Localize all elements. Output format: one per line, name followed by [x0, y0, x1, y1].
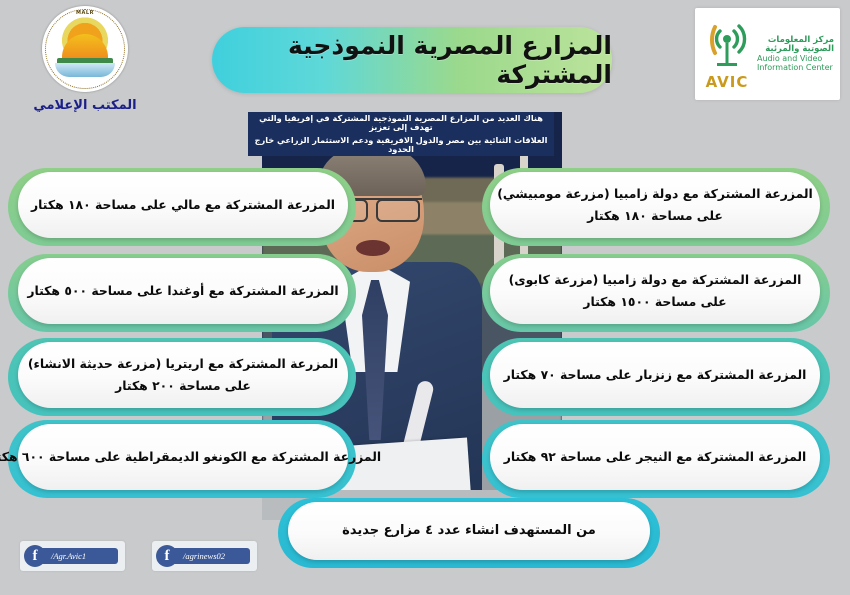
card-line-1: المزرعة المشتركة مع اريتريا (مزرعة حديثة…: [28, 357, 338, 371]
farm-card-eritrea[interactable]: المزرعة المشتركة مع اريتريا (مزرعة حديثة…: [8, 338, 356, 416]
avic-wordmark: AVIC: [701, 73, 753, 91]
ministry-seal-icon: MALR: [42, 6, 128, 92]
card-body: المزرعة المشتركة مع الكونغو الديمقراطية …: [18, 424, 348, 490]
facebook-icon: f: [24, 545, 46, 567]
subtitle-banner: هناك العديد من المزارع المصرية النموذجية…: [248, 112, 554, 156]
card-line-1: المزرعة المشتركة مع مالي على مساحة ١٨٠ ه…: [31, 198, 335, 212]
facebook-badge-agrinews[interactable]: f /agrinews02: [152, 541, 257, 571]
card-body: المزرعة المشتركة مع مالي على مساحة ١٨٠ ه…: [18, 172, 348, 238]
avic-logo: AVIC مركز المعلومات الصوتية والمرئية Aud…: [695, 8, 840, 100]
page-title-text: المزارع المصرية النموذجية المشتركة: [212, 31, 612, 89]
card-body: المزرعة المشتركة مع دولة زامبيا (مزرعة ك…: [490, 258, 820, 324]
farm-card-zanzibar[interactable]: المزرعة المشتركة مع زنزبار على مساحة ٧٠ …: [482, 338, 830, 416]
card-line-1: المزرعة المشتركة مع دولة زامبيا (مزرعة ك…: [509, 273, 802, 287]
card-body: المزرعة المشتركة مع دولة زامبيا (مزرعة م…: [490, 172, 820, 238]
card-line-2: على مساحة ١٨٠ هكتار: [587, 209, 723, 223]
facebook-handle: /Agr.Avic1: [51, 551, 86, 561]
farm-card-mali[interactable]: المزرعة المشتركة مع مالي على مساحة ١٨٠ ه…: [8, 168, 356, 246]
card-line-1: المزرعة المشتركة مع أوغندا على مساحة ٥٠٠…: [27, 284, 338, 298]
farm-card-target-new-farms[interactable]: من المستهدف انشاء عدد ٤ مزارع جديدة: [278, 498, 660, 568]
facebook-handle: /agrinews02: [183, 551, 225, 561]
page-title: المزارع المصرية النموذجية المشتركة: [212, 27, 612, 93]
media-office-caption: المكتب الإعلامي: [20, 98, 150, 113]
facebook-icon: f: [156, 545, 178, 567]
ministry-logo: MALR المكتب الإعلامي: [20, 6, 150, 116]
subtitle-line-1: هناك العديد من المزارع المصرية النموذجية…: [254, 114, 548, 132]
card-line-1: المزرعة المشتركة مع دولة زامبيا (مزرعة م…: [497, 187, 813, 201]
avic-english-line-2: Information Center: [757, 64, 834, 73]
subtitle-line-2: العلاقات الثنائية بين مصر والدول الافريق…: [254, 136, 548, 154]
card-line-1: المزرعة المشتركة مع الكونغو الديمقراطية …: [0, 450, 381, 464]
farm-card-drcongo[interactable]: المزرعة المشتركة مع الكونغو الديمقراطية …: [8, 420, 356, 498]
card-body: المزرعة المشتركة مع أوغندا على مساحة ٥٠٠…: [18, 258, 348, 324]
seal-top-word: MALR: [76, 10, 94, 16]
farm-card-zambia-mumbwishi[interactable]: المزرعة المشتركة مع دولة زامبيا (مزرعة م…: [482, 168, 830, 246]
card-line-1: المزرعة المشتركة مع زنزبار على مساحة ٧٠ …: [504, 368, 807, 382]
avic-name-block: مركز المعلومات الصوتية والمرئية Audio an…: [757, 36, 834, 73]
farm-card-uganda[interactable]: المزرعة المشتركة مع أوغندا على مساحة ٥٠٠…: [8, 254, 356, 332]
photo-mouth: [356, 240, 390, 256]
card-body: المزرعة المشتركة مع النيجر على مساحة ٩٢ …: [490, 424, 820, 490]
card-body: المزرعة المشتركة مع اريتريا (مزرعة حديثة…: [18, 342, 348, 408]
avic-broadcast-icon: AVIC: [701, 17, 753, 91]
card-body: المزرعة المشتركة مع زنزبار على مساحة ٧٠ …: [490, 342, 820, 408]
card-line-1: من المستهدف انشاء عدد ٤ مزارع جديدة: [342, 524, 596, 539]
infographic-canvas: MALR المكتب الإعلامي AVIC مركز المعلومات…: [0, 0, 850, 595]
facebook-badge-avic[interactable]: f /Agr.Avic1: [20, 541, 125, 571]
farm-card-niger[interactable]: المزرعة المشتركة مع النيجر على مساحة ٩٢ …: [482, 420, 830, 498]
seal-water-icon: [55, 63, 115, 77]
card-body: من المستهدف انشاء عدد ٤ مزارع جديدة: [288, 502, 650, 560]
card-line-2: على مساحة ١٥٠٠ هكتار: [583, 295, 726, 309]
card-line-1: المزرعة المشتركة مع النيجر على مساحة ٩٢ …: [504, 450, 807, 464]
farm-card-zambia-kabwe[interactable]: المزرعة المشتركة مع دولة زامبيا (مزرعة ك…: [482, 254, 830, 332]
card-line-2: على مساحة ٢٠٠ هكتار: [115, 379, 251, 393]
